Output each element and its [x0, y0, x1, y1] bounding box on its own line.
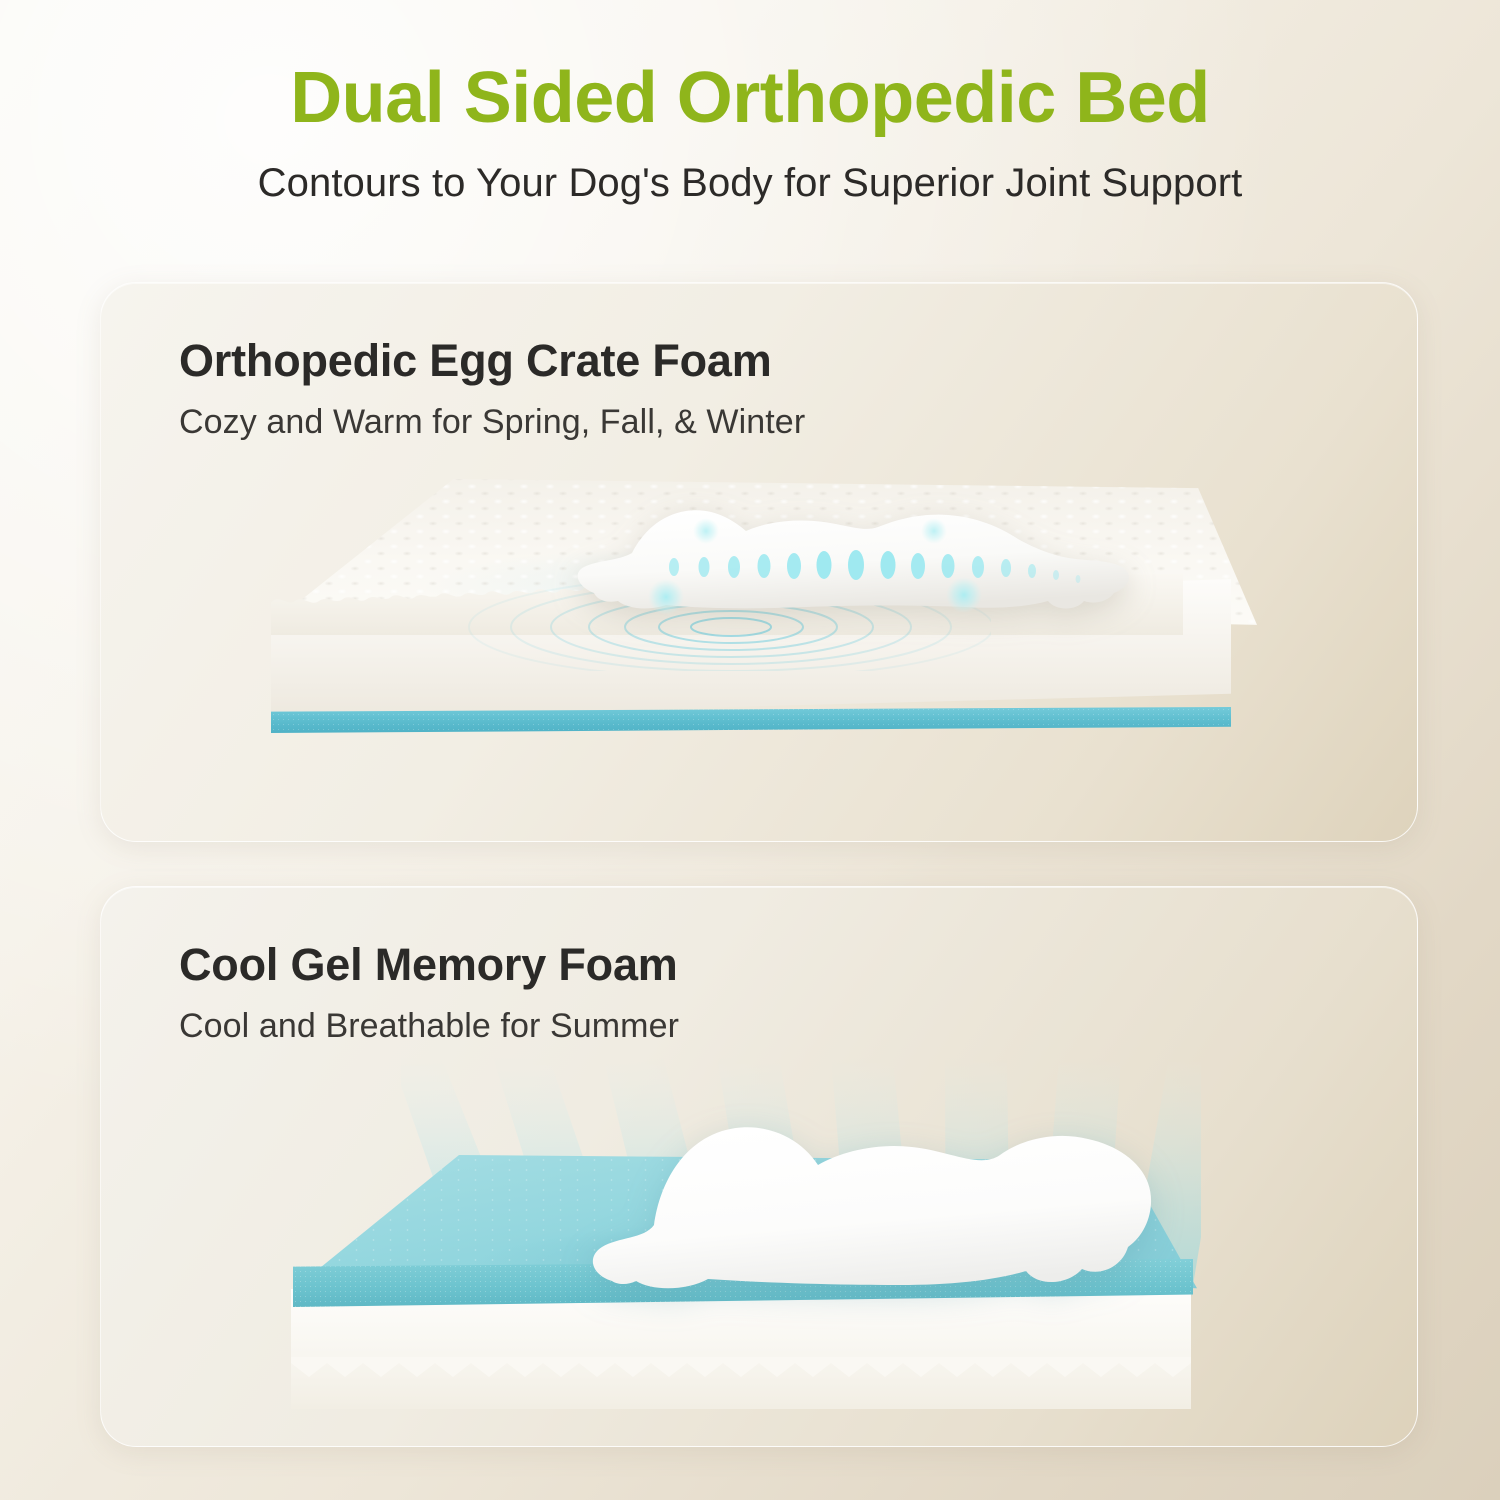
gel-card-subtitle: Cool and Breathable for Summer: [179, 1007, 1417, 1046]
page-subtitle: Contours to Your Dog's Body for Superior…: [0, 161, 1500, 206]
feature-card-egg-crate: Orthopedic Egg Crate Foam Cozy and Warm …: [100, 282, 1418, 842]
egg-crate-card-title: Orthopedic Egg Crate Foam: [179, 335, 1417, 387]
gel-card-title: Cool Gel Memory Foam: [179, 939, 1417, 991]
gel-card-header: Cool Gel Memory Foam Cool and Breathable…: [101, 887, 1417, 1046]
dog-figure-lying-front-view: [556, 1085, 1176, 1315]
dog-figure-side-view: [556, 475, 1156, 655]
egg-crate-card-subtitle: Cozy and Warm for Spring, Fall, & Winter: [179, 403, 1417, 442]
feature-card-gel-memory-foam: Cool Gel Memory Foam Cool and Breathable…: [100, 886, 1418, 1447]
page-title: Dual Sided Orthopedic Bed: [0, 62, 1500, 134]
zigzag-foam-bottom-edge: [291, 1357, 1191, 1393]
egg-crate-card-header: Orthopedic Egg Crate Foam Cozy and Warm …: [101, 283, 1417, 442]
page-header: Dual Sided Orthopedic Bed Contours to Yo…: [0, 0, 1500, 206]
